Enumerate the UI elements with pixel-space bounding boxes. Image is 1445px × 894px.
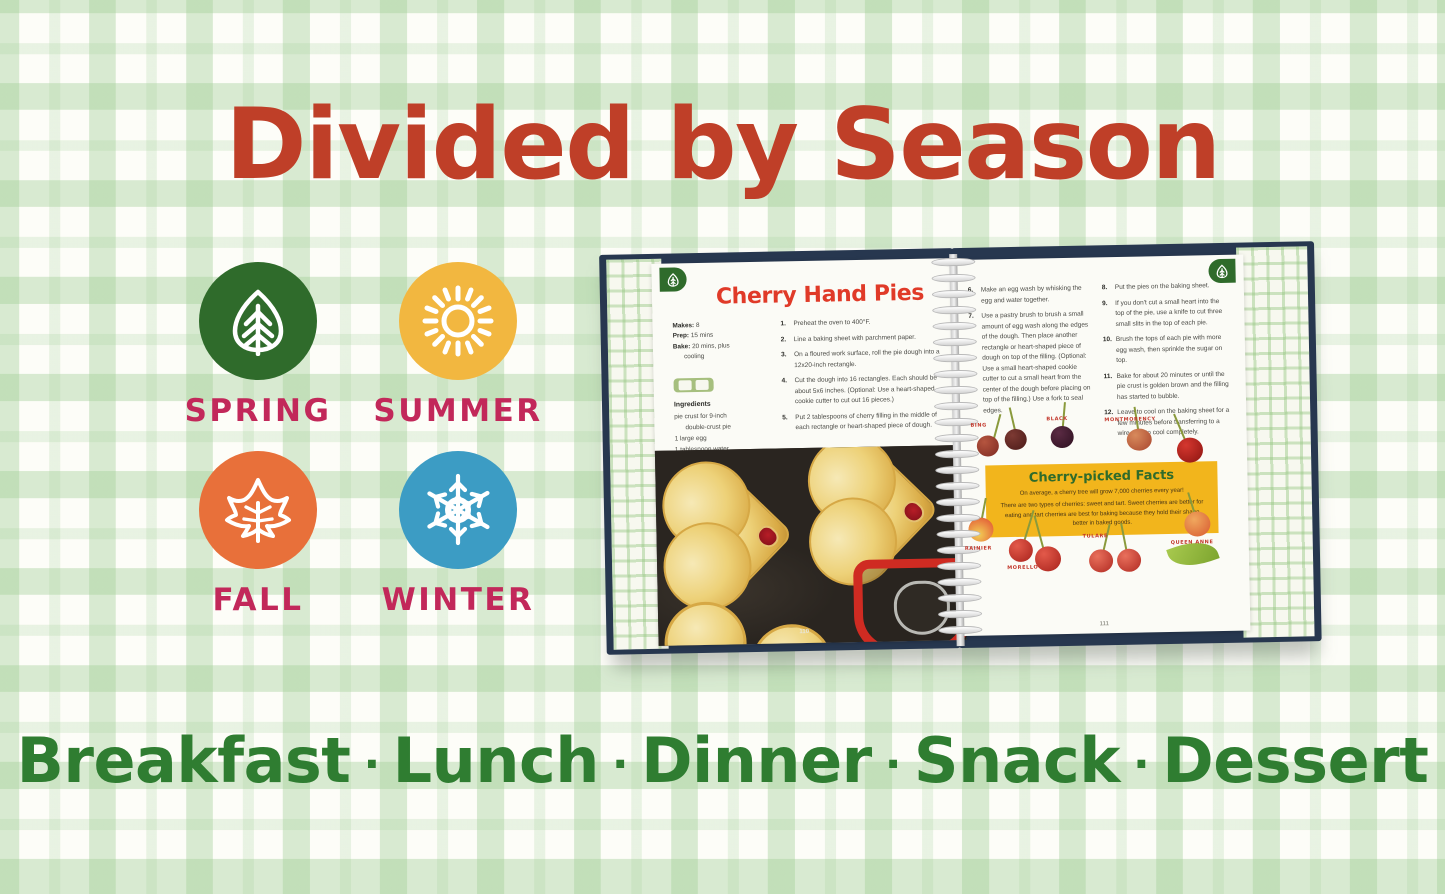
season-tab-left (659, 267, 686, 292)
season-tab-right (1208, 259, 1235, 284)
page-number-right: 111 (1100, 621, 1109, 627)
recipe-step: 8. Put the pies on the baking sheet. (1102, 281, 1230, 294)
meal-snack: Snack (914, 724, 1120, 797)
recipe-steps-left: 1. Preheat the oven to 400°F. 2. Line a … (780, 316, 942, 439)
separator-dot: · (1120, 739, 1162, 790)
season-item-fall[interactable]: FALL (158, 451, 358, 618)
recipe-steps-column-1: 6. Make an egg wash by whisking the egg … (968, 283, 1095, 422)
season-item-summer[interactable]: SUMMER (358, 262, 558, 429)
dietary-icon-chips (673, 378, 713, 393)
diet-chip-1 (678, 380, 691, 390)
season-label-spring: SPRING (185, 393, 332, 429)
hand-pie-round (750, 623, 834, 645)
diet-chip-2 (696, 380, 709, 390)
prep-value: 15 mins (691, 332, 714, 339)
bake-value-2: cooling (673, 351, 765, 363)
recipe-photo: 110 (655, 445, 967, 646)
bake-value: 20 mins, plus (692, 342, 730, 350)
leaf-icon (1215, 263, 1228, 278)
fall-circle (199, 451, 317, 569)
meal-lunch: Lunch (393, 724, 599, 797)
leaf-icon (666, 272, 679, 287)
snowflake-icon (421, 473, 495, 547)
prep-label: Prep: (673, 333, 689, 340)
bake-label: Bake: (673, 343, 691, 350)
recipe-step: 1. Preheat the oven to 400°F. (780, 316, 940, 330)
season-grid: SPRING (158, 262, 558, 618)
sun-icon (421, 284, 495, 358)
cherry-label-queen-anne: QUEEN ANNE (1171, 539, 1214, 546)
page-title: Divided by Season (0, 96, 1445, 194)
facts-line-1: On average, a cherry tree will grow 7,00… (1000, 486, 1204, 499)
hand-pie-round (664, 601, 748, 646)
recipe-step: 5. Put 2 tablespoons of cherry filling i… (782, 410, 942, 434)
recipe-title: Cherry Hand Pies (716, 281, 924, 310)
page-number-left: 110 (799, 629, 809, 635)
winter-circle (399, 451, 517, 569)
season-item-spring[interactable]: SPRING (158, 262, 358, 429)
maple-leaf-icon (222, 475, 294, 545)
recipe-step: 12. Leave to cool on the baking sheet fo… (1104, 406, 1233, 440)
recipe-step: 7. Use a pastry brush to brush a small a… (968, 309, 1094, 417)
spiral-binding (929, 254, 985, 647)
summer-circle (399, 262, 517, 380)
meal-category-list: Breakfast·Lunch·Dinner·Snack·Dessert (0, 724, 1445, 797)
recipe-step: 3. On a floured work surface, roll the p… (781, 347, 941, 371)
book-page-right: 6. Make an egg wash by whisking the egg … (951, 255, 1250, 637)
cherry-label-black: BLACK (1046, 416, 1068, 422)
season-label-summer: SUMMER (373, 393, 542, 429)
book-page-left: Cherry Hand Pies Makes: 8 Prep: 15 mins … (651, 258, 966, 646)
cherry-label-tulare: TULARE (1083, 533, 1109, 539)
makes-label: Makes: (672, 322, 694, 329)
recipe-step: 11. Bake for about 20 minutes or until t… (1103, 369, 1232, 403)
season-label-fall: FALL (212, 582, 303, 618)
separator-dot: · (872, 739, 914, 790)
cherry-label-montmorency: MONTMORENCY (1104, 416, 1155, 423)
meal-dinner: Dinner (641, 724, 872, 797)
season-label-winter: WINTER (382, 582, 535, 618)
separator-dot: · (599, 739, 641, 790)
cherry-label-morello: MORELLO (1007, 565, 1038, 572)
separator-dot: · (350, 739, 392, 790)
ingredients-heading: Ingredients (674, 397, 779, 410)
leaf-icon (227, 286, 289, 356)
cherry-label-rainier: RAINIER (965, 545, 992, 552)
makes-value: 8 (696, 322, 700, 329)
season-item-winter[interactable]: WINTER (358, 451, 558, 618)
meal-breakfast: Breakfast (17, 724, 351, 797)
recipe-step: 6. Make an egg wash by whisking the egg … (968, 283, 1092, 306)
recipe-step: 2. Line a baking sheet with parchment pa… (781, 332, 941, 346)
spring-circle (199, 262, 317, 380)
recipe-meta: Makes: 8 Prep: 15 mins Bake: 20 mins, pl… (672, 320, 765, 363)
cherry-label-bing: BING (970, 422, 986, 428)
recipe-step: 4. Cut the dough into 16 rectangles. Eac… (781, 373, 942, 408)
recipe-step: 9. If you don't cut a small heart into t… (1102, 296, 1231, 330)
meal-dessert: Dessert (1162, 724, 1428, 797)
recipe-step: 10. Brush the tops of each pie with more… (1103, 333, 1232, 367)
open-cookbook-photo: Cherry Hand Pies Makes: 8 Prep: 15 mins … (599, 241, 1322, 667)
